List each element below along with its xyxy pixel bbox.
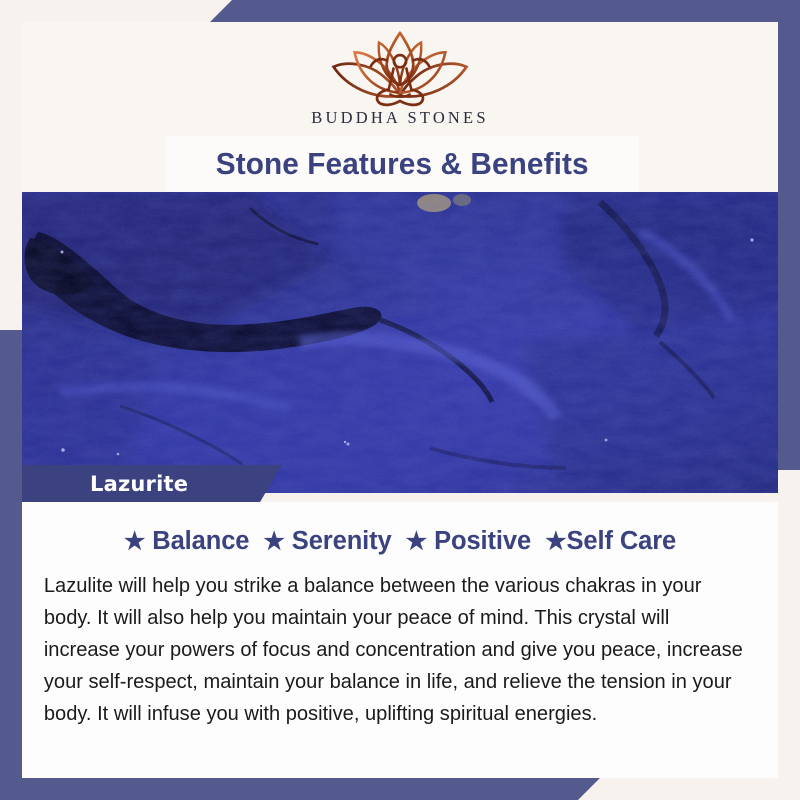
benefit-balance: Balance bbox=[152, 527, 249, 555]
decorative-band-bottom bbox=[0, 778, 600, 800]
brand-header: BUDDHA STONES bbox=[22, 22, 778, 136]
page-body: BUDDHA STONES Stone Features & Benefits bbox=[22, 22, 778, 778]
benefit-serenity: Serenity bbox=[292, 527, 392, 555]
decorative-band-left bbox=[0, 330, 22, 800]
benefits-list: ★Balance ★Serenity ★Positive ★Self Care bbox=[34, 527, 766, 556]
infographic-canvas: BUDDHA STONES Stone Features & Benefits bbox=[0, 0, 800, 800]
stone-photo bbox=[22, 192, 778, 493]
decorative-band-right bbox=[778, 0, 800, 470]
lotus-meditation-figure-icon bbox=[319, 28, 481, 106]
benefit-self-care: Self Care bbox=[566, 527, 676, 555]
stone-name-label: Lazurite bbox=[90, 472, 188, 496]
brand-name: BUDDHA STONES bbox=[311, 108, 488, 128]
stone-name-banner: Lazurite bbox=[22, 465, 282, 502]
benefit-positive: Positive bbox=[434, 527, 531, 555]
star-icon: ★ bbox=[263, 528, 284, 555]
stone-description: Lazulite will help you strike a balance … bbox=[34, 570, 755, 730]
title-plate: Stone Features & Benefits bbox=[165, 136, 639, 192]
star-icon: ★ bbox=[545, 528, 566, 555]
decorative-band-top bbox=[210, 0, 800, 22]
star-icon: ★ bbox=[124, 528, 145, 555]
star-icon: ★ bbox=[406, 528, 427, 555]
page-title: Stone Features & Benefits bbox=[216, 146, 589, 182]
content-panel: ★Balance ★Serenity ★Positive ★Self Care … bbox=[22, 493, 778, 778]
